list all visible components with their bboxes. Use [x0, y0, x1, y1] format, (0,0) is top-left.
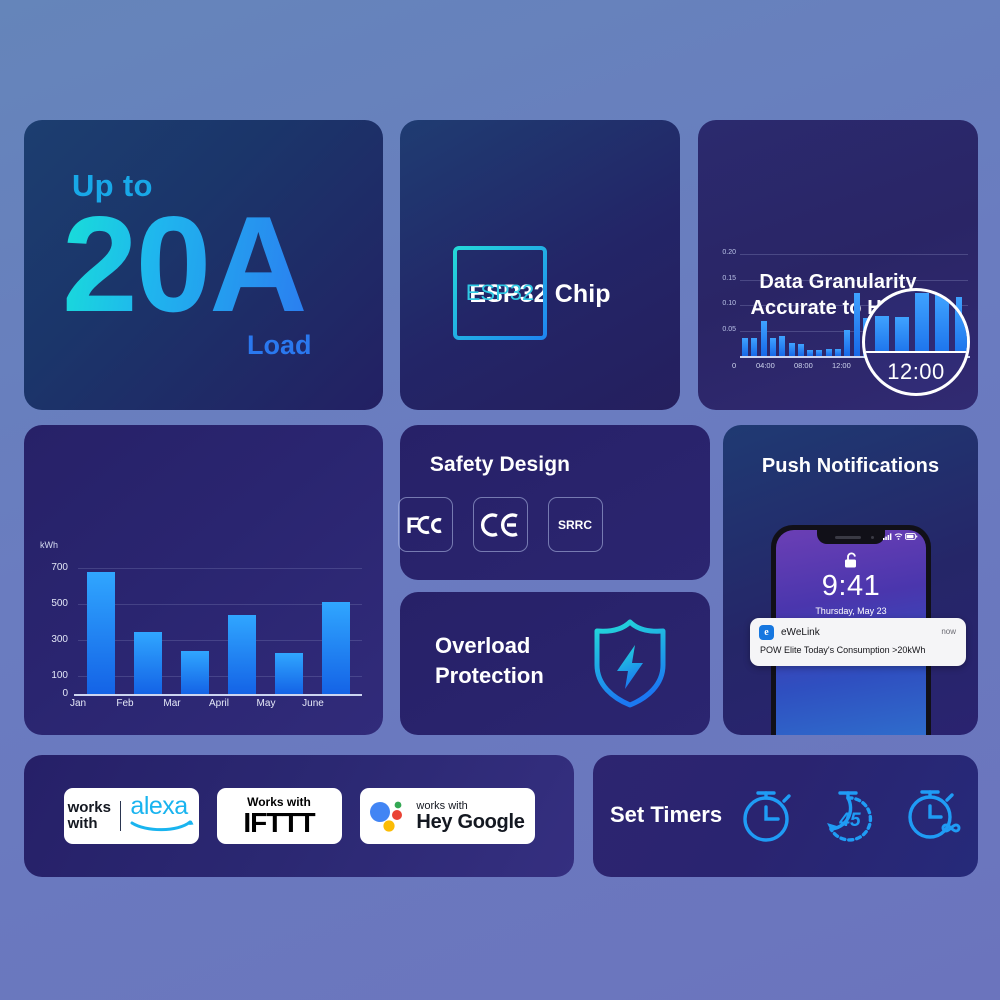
monthly-bars: [78, 554, 362, 694]
timer-icon-row: 45: [740, 783, 966, 845]
bar: [844, 330, 850, 356]
x-axis-tick: Mar: [147, 698, 197, 709]
x-axis-tick: 08:00: [794, 361, 813, 370]
y-axis-tick: 0.15: [710, 275, 736, 282]
ifttt-name: IFTTT: [243, 809, 314, 837]
ce-badge: [473, 497, 528, 552]
status-bar-icons: [883, 533, 918, 540]
notification-banner[interactable]: e eWeLink now POW Elite Today's Consumpt…: [750, 618, 966, 666]
fcc-badge: F: [398, 497, 453, 552]
push-title: Push Notifications: [723, 455, 978, 478]
x-axis-tick: 0: [732, 361, 736, 370]
srrc-label: SRRC: [558, 518, 592, 532]
alexa-name: alexa: [130, 795, 194, 819]
alexa-prefix: works with: [68, 800, 111, 832]
y-axis-tick: 0.05: [710, 326, 736, 333]
notification-header: e eWeLink: [759, 625, 820, 640]
magnifier-baseline: [865, 351, 970, 353]
x-axis-tick: 04:00: [756, 361, 775, 370]
google-wordmark: works with Hey Google: [416, 800, 524, 833]
x-axis-tick: May: [241, 698, 291, 709]
magnified-bar: [875, 316, 889, 353]
loop-timer-icon: [904, 783, 966, 845]
countdown-value: 45: [838, 810, 861, 831]
magnifier-time: 12:00: [865, 359, 967, 385]
microchip-icon: ESP32: [425, 218, 575, 373]
y-axis-tick: 500: [40, 598, 68, 609]
ewelink-app-icon: e: [759, 625, 774, 640]
bar: [779, 336, 785, 356]
alexa-prefix-line1: works: [68, 800, 111, 816]
overload-title: Overload Protection: [435, 631, 544, 690]
notification-app-name: eWeLink: [781, 627, 820, 638]
phone-speaker: [835, 536, 861, 539]
x-axis: [74, 694, 362, 696]
overload-title-line1: Overload: [435, 631, 544, 661]
y-axis-tick: 0.20: [710, 249, 736, 256]
bar: [134, 632, 162, 694]
notification-message: POW Elite Today's Consumption >20kWh: [760, 645, 925, 655]
brand-logo-row: works with alexa Works with IFTTT: [24, 755, 574, 877]
x-axis-tick: June: [288, 698, 338, 709]
stopwatch-icon: [740, 783, 796, 845]
bar: [87, 572, 115, 694]
phone-camera: [871, 536, 875, 540]
notification-timestamp: now: [941, 627, 956, 636]
works-with-alexa-logo: works with alexa: [64, 788, 199, 844]
alexa-wordmark: alexa: [130, 795, 194, 837]
wifi-icon: [894, 533, 903, 540]
shield-bolt-icon: [580, 613, 680, 718]
bar: [854, 293, 860, 356]
six-month-consumption-chart: kWh0100300500700JanFebMarAprilMayJune: [40, 540, 370, 715]
bar: [761, 321, 767, 356]
signal-icon: [883, 533, 892, 540]
load-label: Load: [247, 330, 312, 361]
lockscreen-time: 9:41: [776, 570, 926, 603]
bar: [789, 343, 795, 356]
works-with-google-logo: works with Hey Google: [360, 788, 535, 844]
battery-icon: [905, 533, 918, 540]
google-prefix: works with: [416, 800, 524, 812]
magnified-bar: [915, 293, 929, 353]
srrc-badge: SRRC: [548, 497, 603, 552]
alexa-divider: [120, 801, 122, 831]
y-axis-tick: 100: [40, 670, 68, 681]
bar: [181, 651, 209, 694]
google-name: Hey Google: [416, 812, 524, 833]
svg-text:ESP32: ESP32: [466, 280, 535, 305]
bar: [228, 615, 256, 694]
x-axis-tick: Feb: [100, 698, 150, 709]
timers-title: Set Timers: [610, 802, 722, 828]
bar: [742, 338, 748, 356]
x-axis-tick: 12:00: [832, 361, 851, 370]
magnified-bar: [895, 317, 909, 353]
y-axis-tick: 700: [40, 562, 68, 573]
bar: [322, 602, 350, 694]
x-axis-tick: Jan: [53, 698, 103, 709]
phone-notch: [817, 530, 885, 544]
feature-card-grid: Up to 20A Load ESP32 Chip: [0, 0, 1000, 1000]
google-assistant-icon: [369, 799, 407, 833]
alexa-prefix-line2: with: [68, 816, 111, 832]
y-axis-tick: 300: [40, 634, 68, 645]
bar: [275, 653, 303, 694]
magnified-bar: [935, 295, 949, 353]
countdown-timer-icon: 45: [822, 783, 878, 845]
lockscreen-date: Thursday, May 23: [776, 606, 926, 616]
bar: [835, 349, 841, 356]
bar: [798, 344, 804, 356]
overload-title-line2: Protection: [435, 661, 544, 691]
bar: [770, 338, 776, 356]
magnifier-icon: 12:00: [862, 288, 970, 396]
magnified-bar: [955, 301, 969, 353]
works-with-ifttt-logo: Works with IFTTT: [217, 788, 342, 844]
x-axis-tick: April: [194, 698, 244, 709]
y-axis-tick: 0.10: [710, 300, 736, 307]
amazon-smile-icon: [130, 820, 194, 832]
load-value: 20A: [62, 196, 306, 332]
bar: [826, 349, 832, 356]
bar: [751, 338, 757, 356]
